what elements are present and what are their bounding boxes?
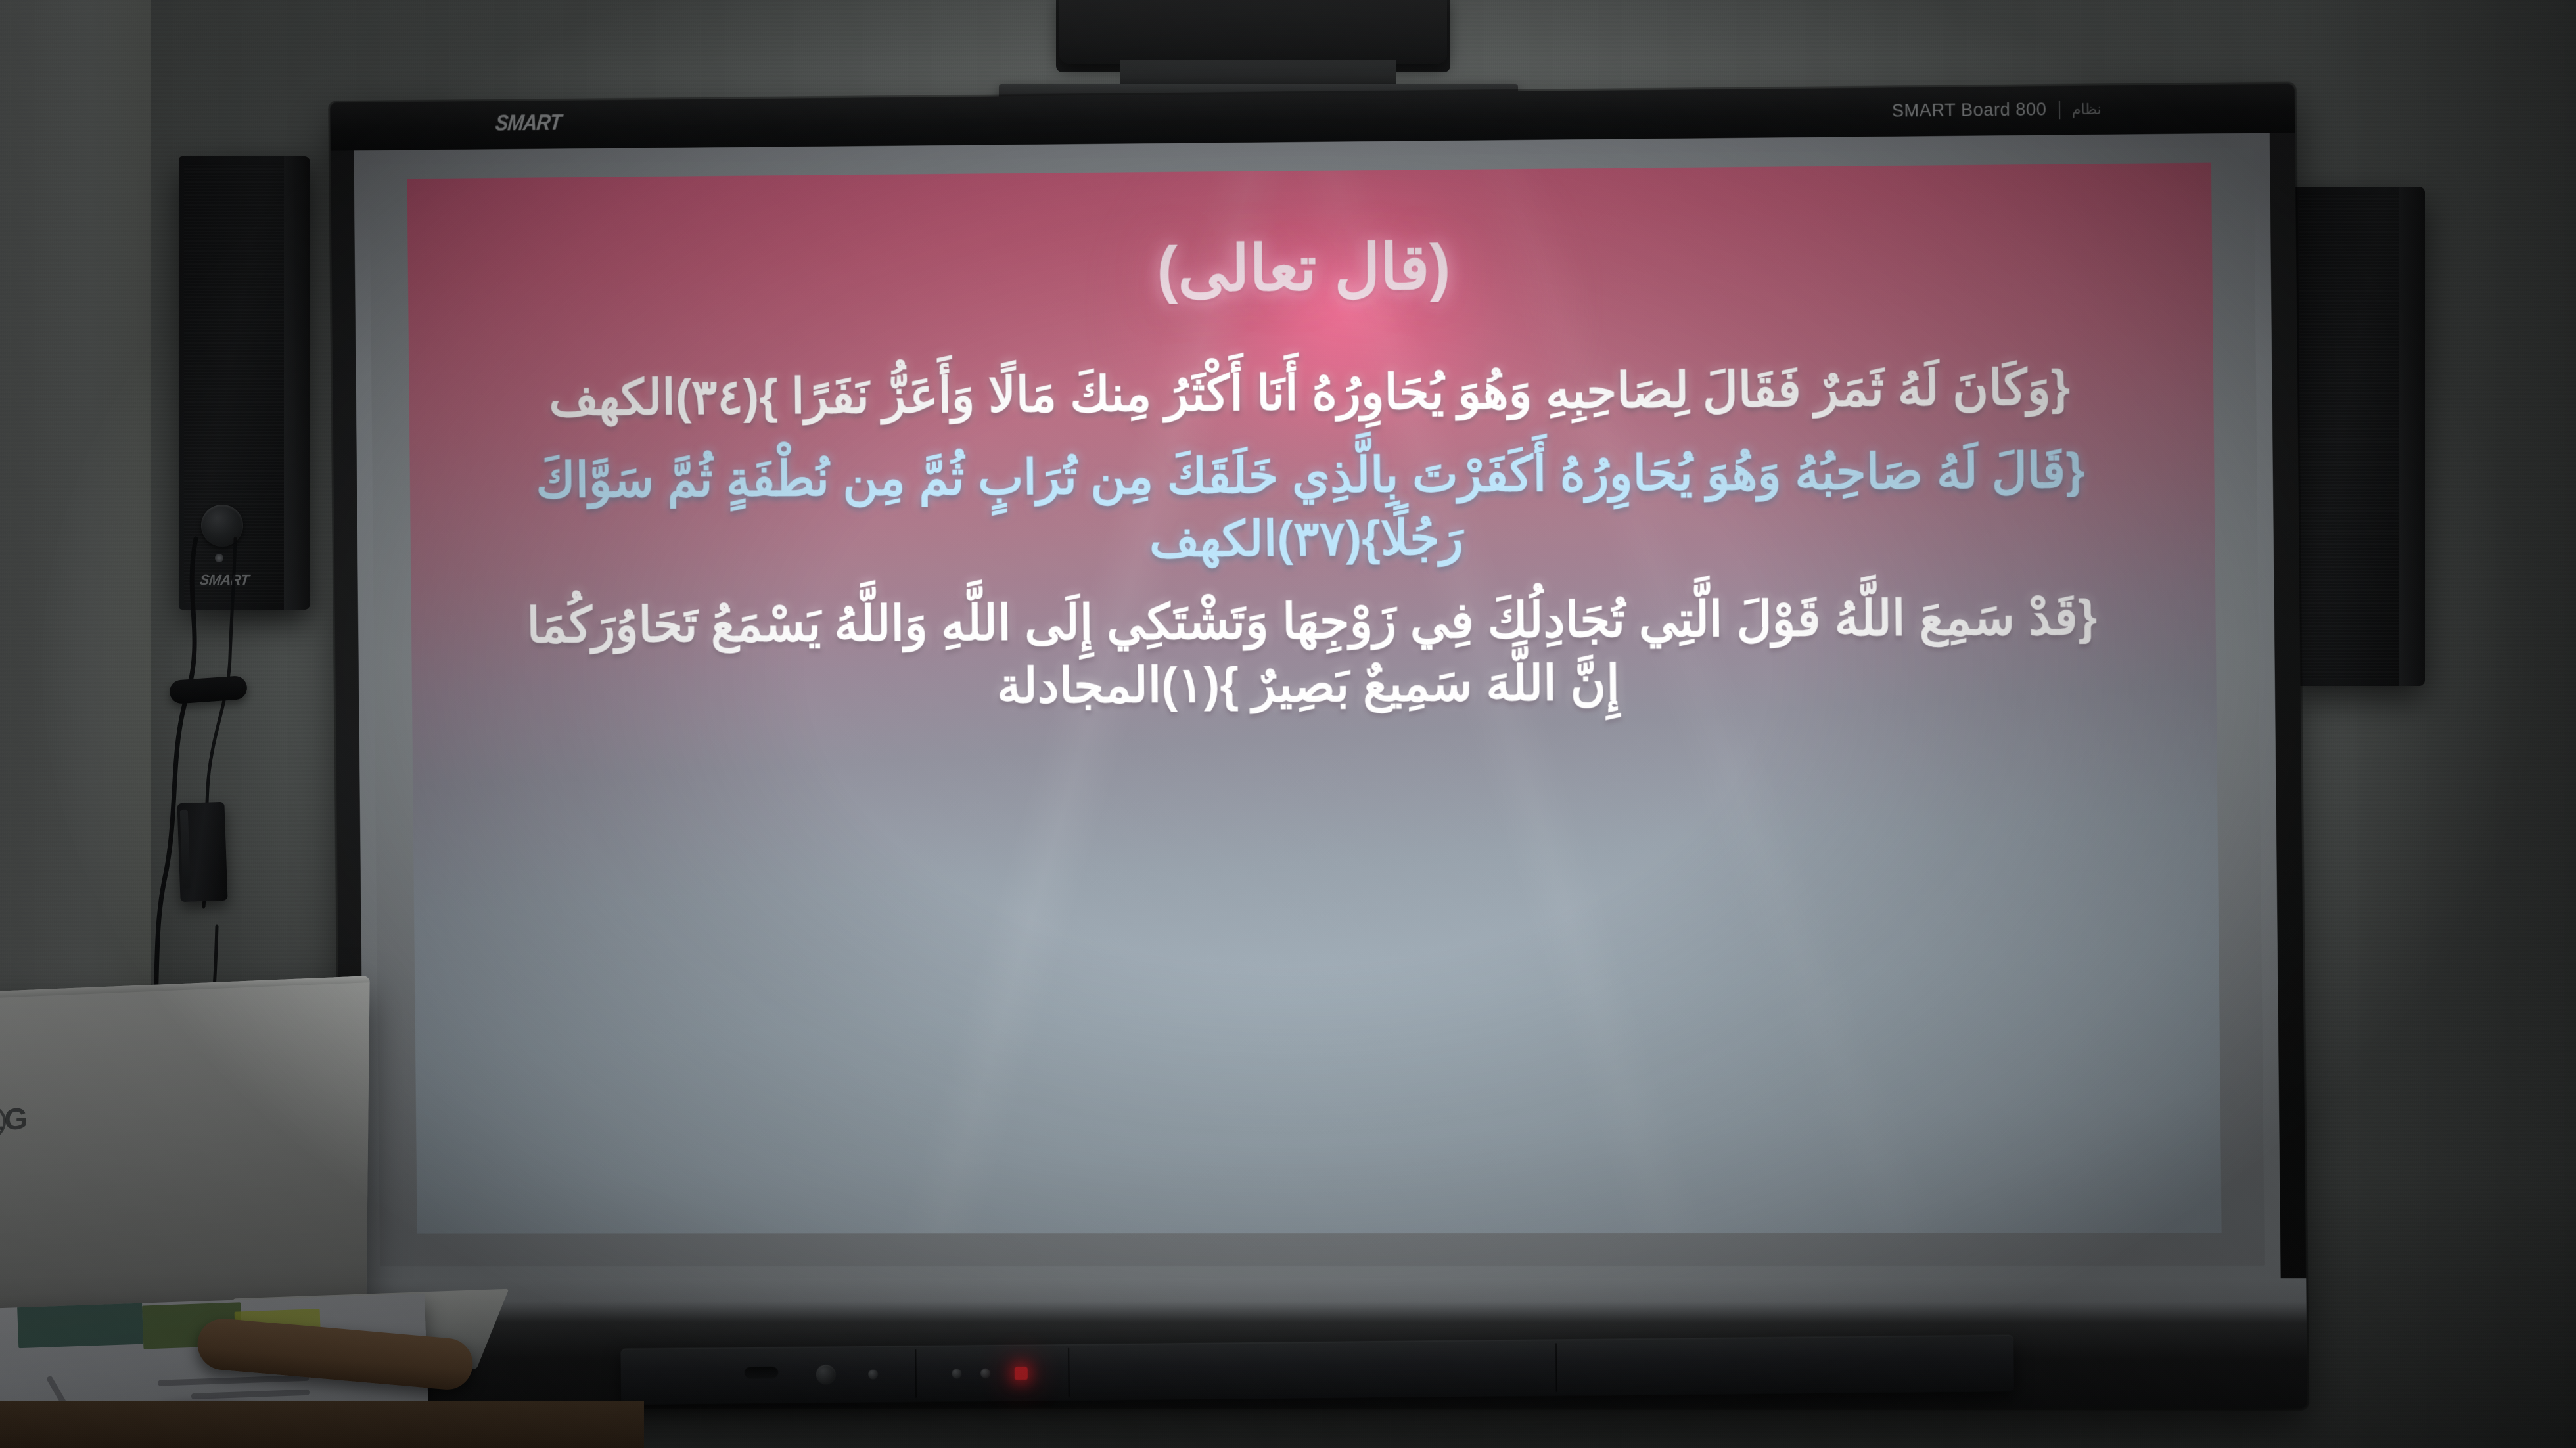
slide-title: (قال تعالى) [486,227,2133,309]
pen-tray[interactable] [620,1334,2014,1405]
tray-divider-2 [1068,1348,1070,1397]
tray-divider [915,1349,917,1398]
right-speaker [2293,187,2425,686]
power-adapter-brick [177,802,227,902]
projector-body [1059,0,1447,64]
pen-slot-left[interactable] [745,1367,779,1378]
verse-al-mujadila-1: {قَدْ سَمِعَ اللَّهُ قَوْلَ الَّتِي تُجَ… [489,585,2136,720]
board-bottom-bezel [341,1278,2307,1409]
board-model-separator [2058,101,2059,119]
smart-brand-logo: SMART [494,110,563,137]
right-speaker-grille [2299,193,2403,679]
desk-front-edge [0,1401,644,1448]
board-model-badge: SMART Board 800 نظام [1892,99,2102,121]
power-adapter-label [180,810,191,889]
tray-button-help[interactable] [980,1369,990,1378]
right-speaker-side [2399,187,2425,686]
tray-status-led [1015,1367,1028,1380]
projected-slide[interactable]: (قال تعالى) {وَكَانَ لَهُ ثَمَرٌ فَقَالَ… [407,163,2221,1234]
tray-button-right-click[interactable] [952,1369,961,1378]
board-screen-surface[interactable]: (قال تعالى) {وَكَانَ لَهُ ثَمَرٌ فَقَالَ… [369,148,2265,1266]
eraser-slot[interactable] [816,1365,836,1384]
verse-al-kahf-37: {قَالَ لَهُ صَاحِبُهُ وَهُوَ يُحَاوِرُهُ… [488,438,2135,575]
tray-button-keyboard[interactable] [868,1370,878,1380]
paper-text-line-2 [191,1390,310,1399]
board-model-secondary-text: نظام [2072,101,2102,118]
tray-divider-3 [1555,1343,1557,1391]
paper-text-line-1 [158,1375,309,1386]
screenshot-stage: SMART SMART SMART Board 800 نظام [0,0,2576,1448]
board-model-text: SMART Board 800 [1892,99,2047,121]
slide-content: (قال تعالى) {وَكَانَ لَهُ ثَمَرٌ فَقَالَ… [407,163,2221,1234]
verse-al-kahf-34: {وَكَانَ لَهُ ثَمَرٌ فَقَالَ لِصَاحِبِهِ… [487,355,2134,430]
smart-board[interactable]: SMART SMART Board 800 نظام (قال تعالى) {… [330,84,2307,1409]
